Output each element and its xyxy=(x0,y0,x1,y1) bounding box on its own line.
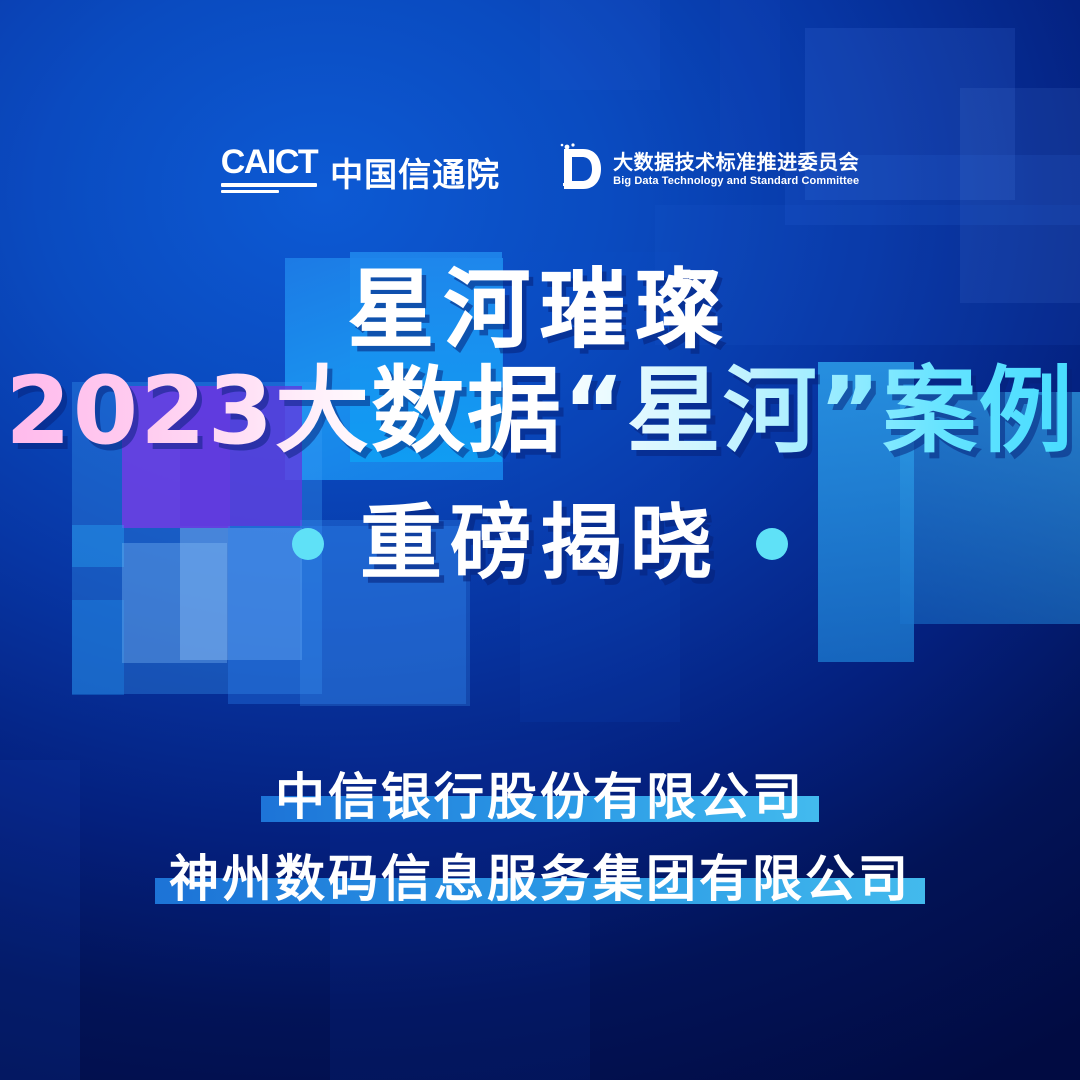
bullet-dot-right-icon xyxy=(756,528,788,560)
bdtsc-text-block: 大数据技术标准推进委员会 Big Data Technology and Sta… xyxy=(613,151,859,188)
winners-list: 中信银行股份有限公司 神州数码信息服务集团有限公司 xyxy=(0,768,1080,908)
headline-line-1: 星河璀璨 xyxy=(0,262,1080,358)
logo-row: CAICT 中国信通院 大数据技术标准推进委员会 Big Data Techno… xyxy=(0,138,1080,200)
caict-chinese-name: 中国信通院 xyxy=(330,157,500,193)
winner-name: 神州数码信息服务集团有限公司 xyxy=(169,850,911,908)
caict-underline-short xyxy=(221,190,279,193)
poster-canvas: CAICT 中国信通院 大数据技术标准推进委员会 Big Data Techno… xyxy=(0,0,1080,1080)
caict-abbr-text: CAICT xyxy=(221,145,317,179)
caict-logo: CAICT 中国信通院 xyxy=(221,145,500,193)
winner-row: 中信银行股份有限公司 xyxy=(275,768,805,826)
headline-block: 星河璀璨 2023大数据“星河”案例 重磅揭晓 xyxy=(0,262,1080,590)
bdtsc-english-name: Big Data Technology and Standard Committ… xyxy=(613,175,859,188)
caict-underline xyxy=(221,183,317,187)
bullet-dot-left-icon xyxy=(292,528,324,560)
bdtsc-d-icon xyxy=(556,143,602,195)
winner-row: 神州数码信息服务集团有限公司 xyxy=(169,850,911,908)
headline-line-3-row: 重磅揭晓 xyxy=(0,498,1080,590)
bdtsc-logo: 大数据技术标准推进委员会 Big Data Technology and Sta… xyxy=(556,143,859,195)
headline-line-3: 重磅揭晓 xyxy=(360,498,720,590)
bdtsc-chinese-name: 大数据技术标准推进委员会 xyxy=(613,151,859,173)
bg-block-6 xyxy=(540,0,660,90)
bg-block-left-band-b xyxy=(72,600,124,695)
caict-wordmark: CAICT xyxy=(221,145,317,193)
winner-name: 中信银行股份有限公司 xyxy=(275,768,805,826)
headline-line-2: 2023大数据“星河”案例 xyxy=(0,360,1080,464)
bg-block-5 xyxy=(720,0,780,150)
